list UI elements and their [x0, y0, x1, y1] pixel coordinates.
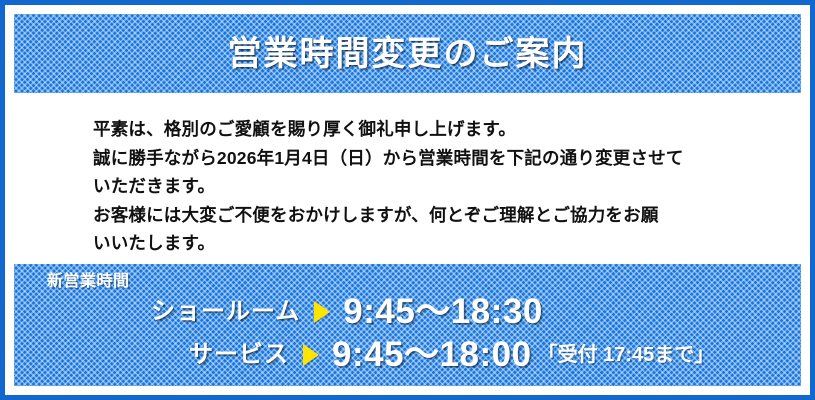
- new-hours-label: 新営業時間: [47, 274, 130, 290]
- body-line: いただきます。: [93, 172, 801, 201]
- hours-row-label: サービス: [189, 343, 289, 367]
- new-hours-band: 新営業時間 ショールーム 9:45〜18:30 サービス 9:45〜18:00 …: [14, 264, 801, 386]
- hours-row-label: ショールーム: [151, 300, 300, 324]
- hours-row-time: 9:45〜18:00: [332, 337, 532, 372]
- body-line: お客様には大変ご不便をおかけしますが、何とぞご理解とご協力をお願: [93, 201, 801, 230]
- hours-row-showroom: ショールーム 9:45〜18:30: [14, 290, 801, 333]
- poster-inner-frame: 営業時間変更のご案内 平素は、格別のご愛顧を賜り厚く御礼申し上げます。 誠に勝手…: [10, 10, 805, 390]
- hours-row-note: 「受付 17:45まで」: [538, 345, 715, 365]
- body-line: 誠に勝手ながら2026年1月4日（日）から営業時間を下記の通り変更させて: [93, 144, 801, 173]
- triangle-right-icon: [303, 344, 319, 366]
- body-line: いいたします。: [93, 229, 801, 258]
- poster-header: 営業時間変更のご案内: [14, 14, 801, 93]
- notice-poster: 営業時間変更のご案内 平素は、格別のご愛顧を賜り厚く御礼申し上げます。 誠に勝手…: [0, 0, 815, 400]
- page-title: 営業時間変更のご案内: [228, 37, 588, 71]
- hours-row-service: サービス 9:45〜18:00 「受付 17:45まで」: [14, 333, 801, 376]
- triangle-right-icon: [314, 301, 330, 323]
- hours-row-time: 9:45〜18:30: [343, 294, 543, 329]
- body-line: 平素は、格別のご愛顧を賜り厚く御礼申し上げます。: [93, 115, 801, 144]
- notice-body: 平素は、格別のご愛顧を賜り厚く御礼申し上げます。 誠に勝手ながら2026年1月4…: [14, 93, 801, 264]
- hours-list: ショールーム 9:45〜18:30 サービス 9:45〜18:00 「受付 17…: [14, 290, 801, 376]
